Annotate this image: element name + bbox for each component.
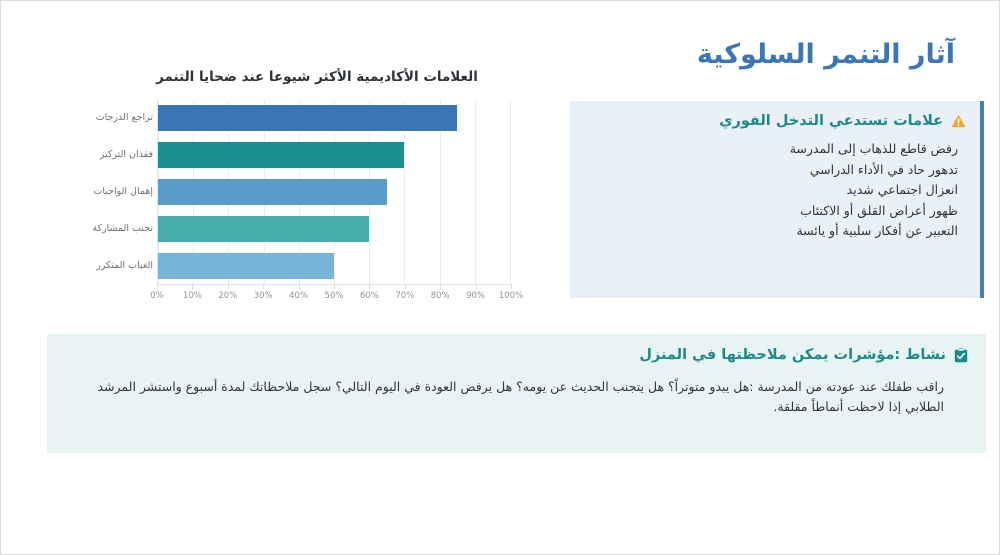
activity-title: نشاط :مؤشرات يمكن ملاحظتها في المنزل bbox=[639, 347, 946, 363]
chart-bar-row bbox=[158, 253, 510, 279]
chart-bar bbox=[158, 216, 369, 242]
chart-x-tick bbox=[263, 284, 264, 289]
alert-title: علامات تستدعي التدخل الفوري bbox=[719, 113, 943, 129]
alert-item-list: رفض قاطع للذهاب إلى المدرسة تدهور حاد في… bbox=[570, 129, 980, 242]
chart-bar bbox=[158, 105, 457, 131]
chart-y-label: تراجع الدرجات bbox=[77, 105, 153, 131]
chart-bars bbox=[158, 99, 510, 284]
chart-y-label: تجنب المشاركة bbox=[77, 216, 153, 242]
list-item: التعبير عن أفكار سلبية أو يائسة bbox=[584, 221, 958, 242]
chart-x-tick-label: 70% bbox=[395, 291, 414, 301]
home-indicators-activity-box: نشاط :مؤشرات يمكن ملاحظتها في المنزل راق… bbox=[47, 334, 986, 453]
academic-signs-bar-chart: العلامات الأكاديمية الأكثر شيوعا عند ضحا… bbox=[77, 61, 537, 311]
warning-triangle-icon bbox=[951, 114, 966, 128]
chart-x-tick bbox=[228, 284, 229, 289]
chart-x-tick bbox=[192, 284, 193, 289]
chart-bar bbox=[158, 179, 387, 205]
chart-x-tick bbox=[299, 284, 300, 289]
activity-header: نشاط :مؤشرات يمكن ملاحظتها في المنزل bbox=[47, 334, 986, 363]
chart-y-label: فقدان التركيز bbox=[77, 142, 153, 168]
list-item: ظهور أعراض القلق أو الاكتئاب bbox=[584, 201, 958, 222]
chart-bar-row bbox=[158, 179, 510, 205]
alert-header: علامات تستدعي التدخل الفوري bbox=[570, 101, 980, 129]
chart-gridline bbox=[510, 99, 511, 284]
clipboard-check-icon bbox=[954, 348, 968, 363]
chart-x-tick-label: 60% bbox=[360, 291, 379, 301]
chart-x-tick bbox=[440, 284, 441, 289]
chart-x-tick bbox=[334, 284, 335, 289]
chart-plot-area bbox=[157, 99, 511, 284]
chart-bar bbox=[158, 253, 334, 279]
chart-x-axis: 0%10%20%30%40%50%60%70%80%90%100% bbox=[157, 284, 511, 306]
chart-x-tick-label: 100% bbox=[499, 291, 523, 301]
chart-y-axis-labels: تراجع الدرجاتفقدان التركيزإهمال الواجبات… bbox=[77, 99, 153, 284]
chart-x-tick bbox=[405, 284, 406, 289]
chart-x-tick bbox=[157, 284, 158, 289]
chart-bar-row bbox=[158, 216, 510, 242]
chart-y-label: إهمال الواجبات bbox=[77, 179, 153, 205]
chart-x-tick-label: 20% bbox=[218, 291, 237, 301]
chart-bar-row bbox=[158, 105, 510, 131]
chart-x-tick-label: 50% bbox=[325, 291, 344, 301]
chart-y-label: الغياب المتكرر bbox=[77, 253, 153, 279]
chart-title: العلامات الأكاديمية الأكثر شيوعا عند ضحا… bbox=[97, 69, 537, 85]
chart-bar bbox=[158, 142, 404, 168]
urgent-signs-alert-box: علامات تستدعي التدخل الفوري رفض قاطع للذ… bbox=[570, 101, 984, 298]
chart-x-tick-label: 40% bbox=[289, 291, 308, 301]
chart-plot-wrapper: تراجع الدرجاتفقدان التركيزإهمال الواجبات… bbox=[77, 99, 533, 309]
chart-x-tick-label: 90% bbox=[466, 291, 485, 301]
chart-x-tick bbox=[511, 284, 512, 289]
page-title: آثار التنمر السلوكية bbox=[697, 39, 955, 70]
list-item: رفض قاطع للذهاب إلى المدرسة bbox=[584, 139, 958, 160]
activity-body-text: راقب طفلك عند عودته من المدرسة :هل يبدو … bbox=[47, 363, 986, 416]
chart-bar-row bbox=[158, 142, 510, 168]
chart-x-tick-label: 0% bbox=[150, 291, 164, 301]
chart-x-tick-label: 80% bbox=[431, 291, 450, 301]
document-page: آثار التنمر السلوكية علامات تستدعي التدخ… bbox=[0, 0, 1000, 555]
list-item: تدهور حاد في الأداء الدراسي bbox=[584, 160, 958, 181]
chart-x-tick bbox=[369, 284, 370, 289]
list-item: انعزال اجتماعي شديد bbox=[584, 180, 958, 201]
chart-x-tick-label: 30% bbox=[254, 291, 273, 301]
chart-x-tick-label: 10% bbox=[183, 291, 202, 301]
chart-x-tick bbox=[476, 284, 477, 289]
